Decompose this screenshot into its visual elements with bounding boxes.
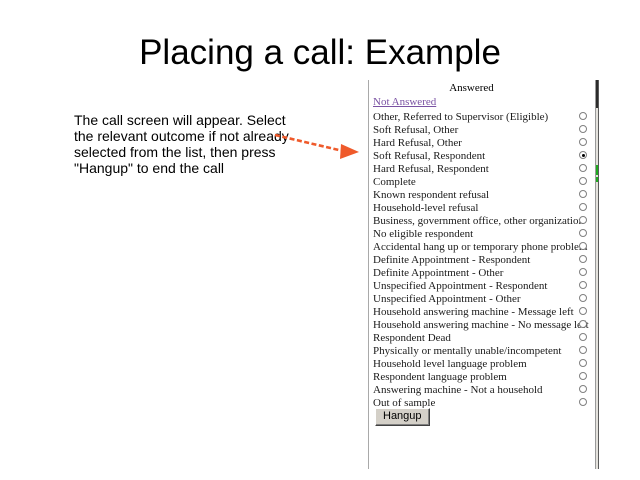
outcome-row[interactable]: Physically or mentally unable/incompeten…: [373, 343, 591, 356]
outcome-row[interactable]: Complete: [373, 174, 591, 187]
outcome-radio[interactable]: [579, 294, 587, 302]
outcome-radio[interactable]: [579, 281, 587, 289]
outcome-row[interactable]: Answering machine - Not a household: [373, 382, 591, 395]
outcome-radio[interactable]: [579, 255, 587, 263]
outcome-row[interactable]: Hard Refusal, Other: [373, 135, 591, 148]
outcome-row[interactable]: Household answering machine - No message…: [373, 317, 591, 330]
outcome-radio[interactable]: [579, 398, 587, 406]
outcome-row[interactable]: Business, government office, other organ…: [373, 213, 591, 226]
outcome-radio[interactable]: [579, 307, 587, 315]
vertical-scrollbar[interactable]: [595, 80, 599, 469]
outcome-row[interactable]: Soft Refusal, Other: [373, 122, 591, 135]
page-title: Placing a call: Example: [0, 34, 640, 73]
outcome-row[interactable]: Definite Appointment - Other: [373, 265, 591, 278]
outcome-row[interactable]: Other, Referred to Supervisor (Eligible): [373, 109, 591, 122]
outcome-row[interactable]: Unspecified Appointment - Other: [373, 291, 591, 304]
outcome-radio[interactable]: [579, 125, 587, 133]
scrollbar-thumb[interactable]: [596, 80, 598, 108]
outcome-row[interactable]: Out of sample: [373, 395, 591, 408]
outcome-radio[interactable]: [579, 268, 587, 276]
outcome-radio[interactable]: [579, 359, 587, 367]
scrollbar-mark: [596, 165, 598, 175]
outcome-row[interactable]: Household-level refusal: [373, 200, 591, 213]
outcome-radio[interactable]: [579, 372, 587, 380]
outcome-row[interactable]: Definite Appointment - Respondent: [373, 252, 591, 265]
outcome-row[interactable]: Known respondent refusal: [373, 187, 591, 200]
outcome-radio[interactable]: [579, 333, 587, 341]
outcome-row[interactable]: No eligible respondent: [373, 226, 591, 239]
outcome-radio[interactable]: [579, 164, 587, 172]
outcome-radio[interactable]: [579, 112, 587, 120]
hangup-button[interactable]: Hangup: [375, 408, 430, 426]
outcome-radio[interactable]: [579, 203, 587, 211]
not-answered-link[interactable]: Not Answered: [373, 96, 591, 109]
outcome-row[interactable]: Household answering machine - Message le…: [373, 304, 591, 317]
outcome-radio[interactable]: [579, 190, 587, 198]
outcome-radio-selected[interactable]: [579, 151, 587, 159]
annotation-text: The call screen will appear. Select the …: [74, 112, 289, 176]
outcome-list: Answered Not Answered Other, Referred to…: [369, 80, 591, 469]
scrollbar-mark: [596, 177, 598, 182]
outcome-rows-container: Other, Referred to Supervisor (Eligible)…: [369, 109, 591, 408]
outcome-radio[interactable]: [579, 138, 587, 146]
outcome-radio[interactable]: [579, 242, 587, 250]
outcome-row[interactable]: Accidental hang up or temporary phone pr…: [373, 239, 591, 252]
outcome-row[interactable]: Household level language problem: [373, 356, 591, 369]
outcome-row[interactable]: Soft Refusal, Respondent: [373, 148, 591, 161]
answered-section-heading: Answered: [369, 82, 574, 95]
outcome-radio[interactable]: [579, 385, 587, 393]
outcome-row[interactable]: Unspecified Appointment - Respondent: [373, 278, 591, 291]
outcome-row[interactable]: Respondent Dead: [373, 330, 591, 343]
outcome-radio[interactable]: [579, 177, 587, 185]
outcome-radio[interactable]: [579, 216, 587, 224]
outcome-row[interactable]: Respondent language problem: [373, 369, 591, 382]
outcome-radio[interactable]: [579, 320, 587, 328]
outcome-radio[interactable]: [579, 346, 587, 354]
outcome-radio[interactable]: [579, 229, 587, 237]
outcome-row[interactable]: Hard Refusal, Respondent: [373, 161, 591, 174]
call-outcome-screen: Answered Not Answered Other, Referred to…: [368, 80, 600, 469]
